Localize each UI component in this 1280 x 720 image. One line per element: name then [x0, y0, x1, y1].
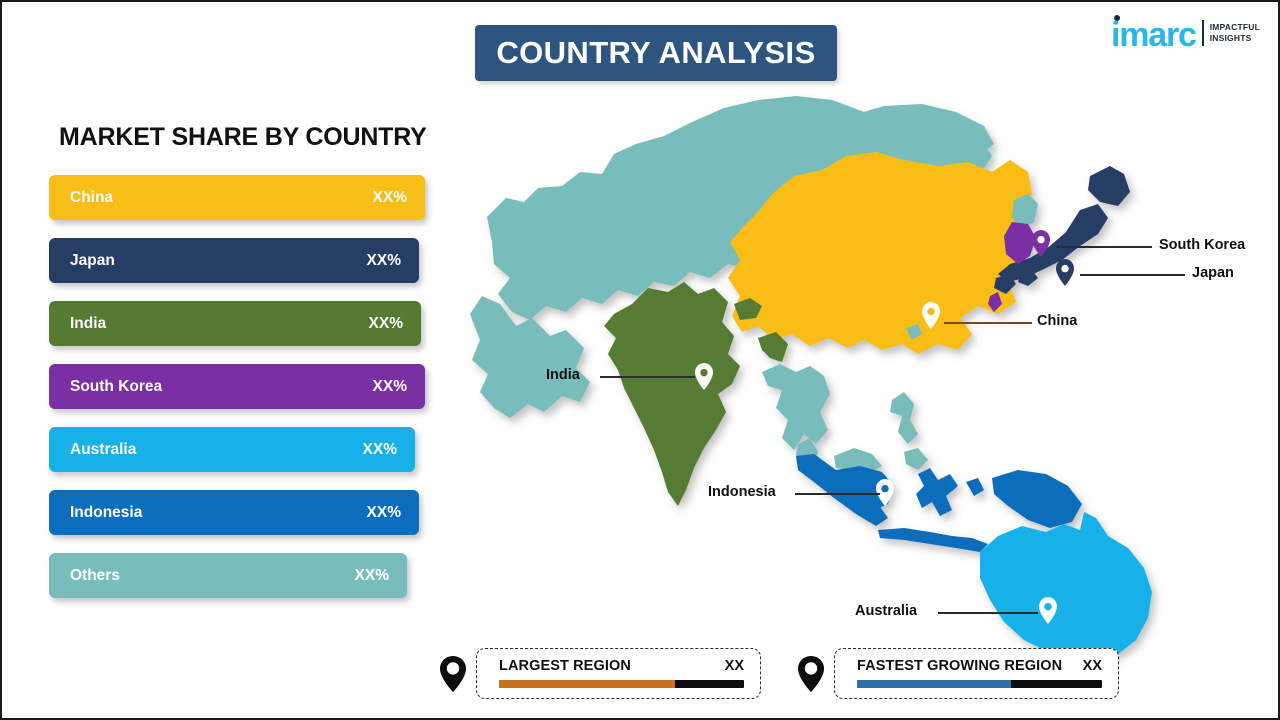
callout-japan: Japan — [1192, 265, 1234, 281]
location-pin-icon — [439, 655, 467, 693]
bar-value: XX% — [367, 504, 401, 522]
largest-region-label: LARGEST REGION — [499, 658, 631, 674]
callout-south-korea: South Korea — [1159, 237, 1245, 253]
callout-label: Japan — [1192, 265, 1234, 281]
logo-mark-text: imarc — [1111, 16, 1196, 54]
bar-value: XX% — [367, 252, 401, 270]
leader-line-australia — [938, 612, 1038, 614]
region-india[interactable] — [604, 282, 740, 506]
bar-row-south-korea[interactable]: South Korea XX% — [49, 364, 425, 409]
fastest-growing-region-box[interactable]: FASTEST GROWING REGION XX — [834, 648, 1119, 699]
bar-label: Australia — [70, 441, 363, 459]
bar-row-others[interactable]: Others XX% — [49, 553, 407, 598]
largest-region-box[interactable]: LARGEST REGION XX — [476, 648, 761, 699]
region-others-sea-mainland[interactable] — [762, 364, 830, 450]
bar-label: India — [70, 315, 369, 333]
fastest-growing-region-label: FASTEST GROWING REGION — [857, 658, 1062, 674]
leader-line-south-korea — [1057, 246, 1152, 248]
leader-line-japan — [1080, 274, 1185, 276]
callout-label: Indonesia — [708, 484, 776, 500]
fastest-growing-region-progress-track — [857, 680, 1102, 688]
region-indonesia-maluku[interactable] — [966, 478, 984, 496]
callout-label: China — [1037, 313, 1077, 329]
bar-label: China — [70, 189, 373, 207]
asia-pacific-map: South Korea Japan China India Indonesia … — [432, 82, 1280, 672]
callout-australia: Australia — [855, 603, 917, 619]
logo-dot-icon — [1114, 15, 1120, 21]
leader-line-india — [600, 376, 695, 378]
page-title: COUNTRY ANALYSIS — [496, 35, 815, 71]
region-japan-hokkaido[interactable] — [1088, 166, 1130, 206]
leader-line-china — [944, 322, 1032, 324]
region-others-philippines-south[interactable] — [904, 448, 928, 470]
bar-row-indonesia[interactable]: Indonesia XX% — [49, 490, 419, 535]
callout-label: Australia — [855, 603, 917, 619]
region-indonesia-sulawesi[interactable] — [916, 468, 958, 516]
imarc-logo: imarc IMPACTFUL INSIGHTS — [1111, 16, 1260, 50]
location-pin-icon — [797, 655, 825, 693]
largest-region-progress-track — [499, 680, 744, 688]
market-share-heading: MARKET SHARE BY COUNTRY — [59, 123, 427, 152]
callout-label: South Korea — [1159, 237, 1245, 253]
logo-divider — [1202, 20, 1204, 46]
bar-row-australia[interactable]: Australia XX% — [49, 427, 415, 472]
bar-label: Indonesia — [70, 504, 367, 522]
callout-india: India — [546, 367, 580, 383]
region-indonesia-java[interactable] — [878, 528, 988, 552]
largest-region-value: XX — [725, 658, 744, 674]
logo-tagline: IMPACTFUL INSIGHTS — [1210, 22, 1260, 43]
market-share-bar-list: China XX% Japan XX% India XX% South Kore… — [49, 175, 439, 616]
region-australia[interactable] — [980, 512, 1152, 662]
bar-row-india[interactable]: India XX% — [49, 301, 421, 346]
bar-value: XX% — [373, 189, 407, 207]
bar-label: South Korea — [70, 378, 373, 396]
logo-wordmark: imarc — [1111, 18, 1196, 52]
slide-canvas: imarc IMPACTFUL INSIGHTS COUNTRY ANALYSI… — [0, 0, 1280, 720]
fastest-growing-region-progress-fill — [857, 680, 1011, 688]
bar-value: XX% — [355, 567, 389, 585]
callout-label: India — [546, 367, 580, 383]
logo-tagline-line1: IMPACTFUL — [1210, 22, 1260, 33]
bar-value: XX% — [363, 441, 397, 459]
largest-region-legend: LARGEST REGION XX — [439, 648, 761, 699]
bar-value: XX% — [373, 378, 407, 396]
callout-indonesia: Indonesia — [708, 484, 776, 500]
largest-region-progress-fill — [499, 680, 675, 688]
bar-value: XX% — [369, 315, 403, 333]
bar-label: Others — [70, 567, 355, 585]
pin-japan-icon[interactable] — [1056, 259, 1074, 286]
fastest-growing-region-legend: FASTEST GROWING REGION XX — [797, 648, 1119, 699]
callout-china: China — [1037, 313, 1077, 329]
bar-row-china[interactable]: China XX% — [49, 175, 425, 220]
region-others-philippines[interactable] — [890, 392, 918, 444]
page-title-banner: COUNTRY ANALYSIS — [475, 25, 837, 81]
fastest-growing-region-value: XX — [1083, 658, 1102, 674]
leader-line-indonesia — [795, 493, 880, 495]
bar-label: Japan — [70, 252, 367, 270]
logo-tagline-line2: INSIGHTS — [1210, 33, 1260, 44]
bar-row-japan[interactable]: Japan XX% — [49, 238, 419, 283]
region-indonesia-papua[interactable] — [992, 470, 1082, 528]
